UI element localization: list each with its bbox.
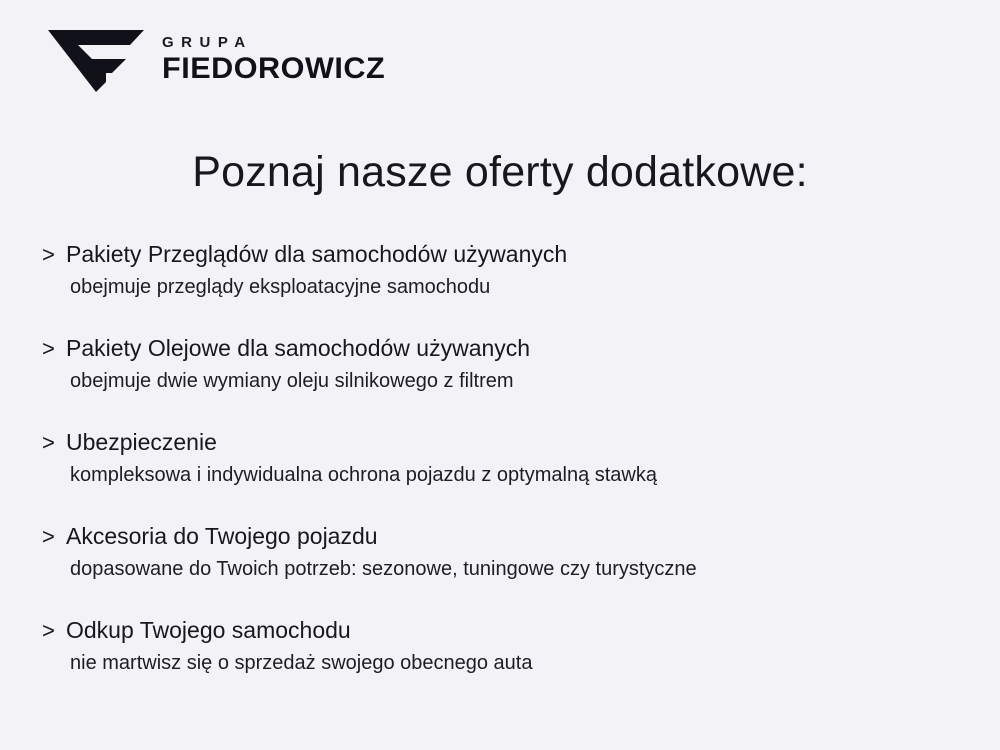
offer-heading: Akcesoria do Twojego pojazdu <box>66 522 378 551</box>
chevron-right-marker-icon: > <box>42 617 66 645</box>
offer-description: nie martwisz się o sprzedaż swojego obec… <box>70 650 942 676</box>
offer-list: > Pakiety Przeglądów dla samochodów używ… <box>42 240 942 676</box>
list-item: > Pakiety Przeglądów dla samochodów używ… <box>42 240 942 300</box>
chevron-right-marker-icon: > <box>42 429 66 457</box>
offer-description: obejmuje przeglądy eksploatacyjne samoch… <box>70 274 942 300</box>
list-item: > Akcesoria do Twojego pojazdu dopasowan… <box>42 522 942 582</box>
chevron-right-marker-icon: > <box>42 523 66 551</box>
offer-description: kompleksowa i indywidualna ochrona pojaz… <box>70 462 942 488</box>
fiedorowicz-f-triangle-icon <box>48 26 144 92</box>
page-title: Poznaj nasze oferty dodatkowe: <box>0 148 1000 197</box>
brand-logo: GRUPA FIEDOROWICZ <box>48 26 381 92</box>
offer-heading-row: > Ubezpieczenie <box>42 428 942 457</box>
brand-wordmark: GRUPA FIEDOROWICZ <box>162 33 381 85</box>
offer-description: obejmuje dwie wymiany oleju silnikowego … <box>70 368 942 394</box>
offer-description: dopasowane do Twoich potrzeb: sezonowe, … <box>70 556 942 582</box>
offer-heading-row: > Odkup Twojego samochodu <box>42 616 942 645</box>
list-item: > Pakiety Olejowe dla samochodów używany… <box>42 334 942 394</box>
chevron-right-marker-icon: > <box>42 335 66 363</box>
brand-fiedorowicz-text: FIEDOROWICZ <box>162 54 385 85</box>
offer-heading-row: > Pakiety Olejowe dla samochodów używany… <box>42 334 942 363</box>
brand-grupa-text: GRUPA <box>162 35 381 52</box>
offer-heading: Pakiety Olejowe dla samochodów używanych <box>66 334 530 363</box>
list-item: > Odkup Twojego samochodu nie martwisz s… <box>42 616 942 676</box>
offer-heading: Ubezpieczenie <box>66 428 217 457</box>
offer-heading-row: > Akcesoria do Twojego pojazdu <box>42 522 942 551</box>
list-item: > Ubezpieczenie kompleksowa i indywidual… <box>42 428 942 488</box>
offer-heading-row: > Pakiety Przeglądów dla samochodów używ… <box>42 240 942 269</box>
offer-heading: Pakiety Przeglądów dla samochodów używan… <box>66 240 567 269</box>
chevron-right-marker-icon: > <box>42 241 66 269</box>
offer-heading: Odkup Twojego samochodu <box>66 616 351 645</box>
